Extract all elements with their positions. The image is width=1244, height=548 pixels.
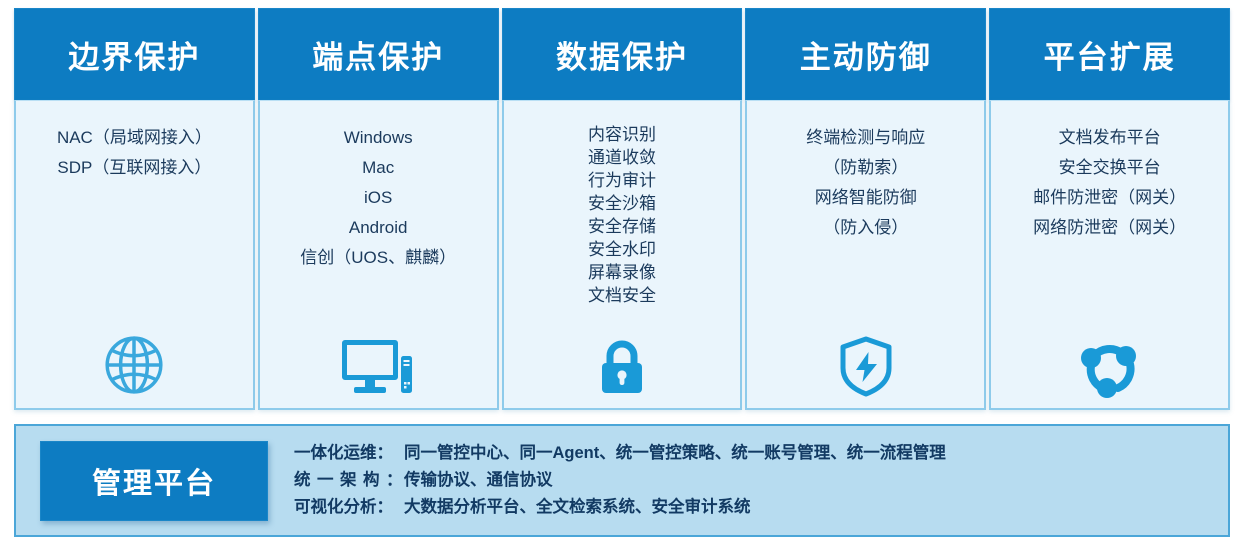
capability-card-data-protection[interactable]: 数据保护 内容识别 通道收敛 行为审计 安全沙箱 安全存储 安全水印 屏幕录像 … xyxy=(502,8,743,410)
management-platform-band: 管理平台 一体化运维： 同一管控中心、同一Agent、统一管控策略、统一账号管理… xyxy=(14,424,1230,537)
management-detail-row: 统一架构： 传输协议、通信协议 xyxy=(294,467,1228,494)
card-line: 屏幕录像 xyxy=(504,261,741,284)
globe-icon xyxy=(16,328,253,398)
card-body-boundary-protection: NAC（局域网接入） SDP（互联网接入） xyxy=(14,100,255,410)
card-line: NAC（局域网接入） xyxy=(16,123,253,153)
card-line: Windows xyxy=(260,123,497,153)
card-header-boundary-protection: 边界保护 xyxy=(14,8,255,100)
card-line: SDP（互联网接入） xyxy=(16,153,253,183)
card-line: 安全存储 xyxy=(504,215,741,238)
card-line: Mac xyxy=(260,153,497,183)
share-nodes-icon xyxy=(991,328,1228,398)
capability-card-boundary-protection[interactable]: 边界保护 NAC（局域网接入） SDP（互联网接入） xyxy=(14,8,255,410)
card-line: 文档发布平台 xyxy=(991,123,1228,153)
capability-card-active-defense[interactable]: 主动防御 终端检测与响应 （防勒索） 网络智能防御 （防入侵） xyxy=(745,8,986,410)
card-header-endpoint-protection: 端点保护 xyxy=(258,8,499,100)
card-line: 安全水印 xyxy=(504,238,741,261)
capability-card-endpoint-protection[interactable]: 端点保护 Windows Mac iOS Android 信创（UOS、麒麟） xyxy=(258,8,499,410)
management-details: 一体化运维： 同一管控中心、同一Agent、统一管控策略、统一账号管理、统一流程… xyxy=(294,440,1228,521)
shield-bolt-icon xyxy=(747,328,984,398)
card-line: iOS xyxy=(260,183,497,213)
management-detail-value: 大数据分析平台、全文检索系统、安全审计系统 xyxy=(404,494,1228,521)
management-platform-button[interactable]: 管理平台 xyxy=(40,441,268,521)
card-lines-data-protection: 内容识别 通道收敛 行为审计 安全沙箱 安全存储 安全水印 屏幕录像 文档安全 xyxy=(504,123,741,307)
card-line: （防勒索） xyxy=(747,153,984,183)
card-line: 安全交换平台 xyxy=(991,153,1228,183)
card-line: Android xyxy=(260,213,497,243)
capability-card-platform-extension[interactable]: 平台扩展 文档发布平台 安全交换平台 邮件防泄密（网关） 网络防泄密（网关） xyxy=(989,8,1230,410)
card-body-active-defense: 终端检测与响应 （防勒索） 网络智能防御 （防入侵） xyxy=(745,100,986,410)
desktop-computer-icon xyxy=(260,328,497,398)
card-line: 行为审计 xyxy=(504,169,741,192)
management-detail-value: 传输协议、通信协议 xyxy=(404,467,1228,494)
card-header-platform-extension: 平台扩展 xyxy=(989,8,1230,100)
management-detail-row: 一体化运维： 同一管控中心、同一Agent、统一管控策略、统一账号管理、统一流程… xyxy=(294,440,1228,467)
card-header-active-defense: 主动防御 xyxy=(745,8,986,100)
card-line: 网络智能防御 xyxy=(747,183,984,213)
card-lines-endpoint-protection: Windows Mac iOS Android 信创（UOS、麒麟） xyxy=(260,123,497,273)
card-line: 安全沙箱 xyxy=(504,192,741,215)
card-line: 内容识别 xyxy=(504,123,741,146)
card-header-data-protection: 数据保护 xyxy=(502,8,743,100)
card-body-endpoint-protection: Windows Mac iOS Android 信创（UOS、麒麟） xyxy=(258,100,499,410)
management-detail-value: 同一管控中心、同一Agent、统一管控策略、统一账号管理、统一流程管理 xyxy=(404,440,1228,467)
card-line: 终端检测与响应 xyxy=(747,123,984,153)
card-line: 文档安全 xyxy=(504,284,741,307)
card-line: 通道收敛 xyxy=(504,146,741,169)
management-detail-label: 可视化分析： xyxy=(294,494,404,521)
lock-icon xyxy=(504,328,741,398)
management-detail-label: 统一架构： xyxy=(294,467,404,494)
card-lines-boundary-protection: NAC（局域网接入） SDP（互联网接入） xyxy=(16,123,253,183)
card-line: 信创（UOS、麒麟） xyxy=(260,243,497,273)
card-lines-active-defense: 终端检测与响应 （防勒索） 网络智能防御 （防入侵） xyxy=(747,123,984,243)
management-detail-row: 可视化分析： 大数据分析平台、全文检索系统、安全审计系统 xyxy=(294,494,1228,521)
card-line: 网络防泄密（网关） xyxy=(991,213,1228,243)
card-line: 邮件防泄密（网关） xyxy=(991,183,1228,213)
card-body-data-protection: 内容识别 通道收敛 行为审计 安全沙箱 安全存储 安全水印 屏幕录像 文档安全 xyxy=(502,100,743,410)
card-line: （防入侵） xyxy=(747,213,984,243)
capability-grid: 边界保护 NAC（局域网接入） SDP（互联网接入） xyxy=(14,8,1230,410)
card-lines-platform-extension: 文档发布平台 安全交换平台 邮件防泄密（网关） 网络防泄密（网关） xyxy=(991,123,1228,243)
card-body-platform-extension: 文档发布平台 安全交换平台 邮件防泄密（网关） 网络防泄密（网关） xyxy=(989,100,1230,410)
management-detail-label: 一体化运维： xyxy=(294,440,404,467)
